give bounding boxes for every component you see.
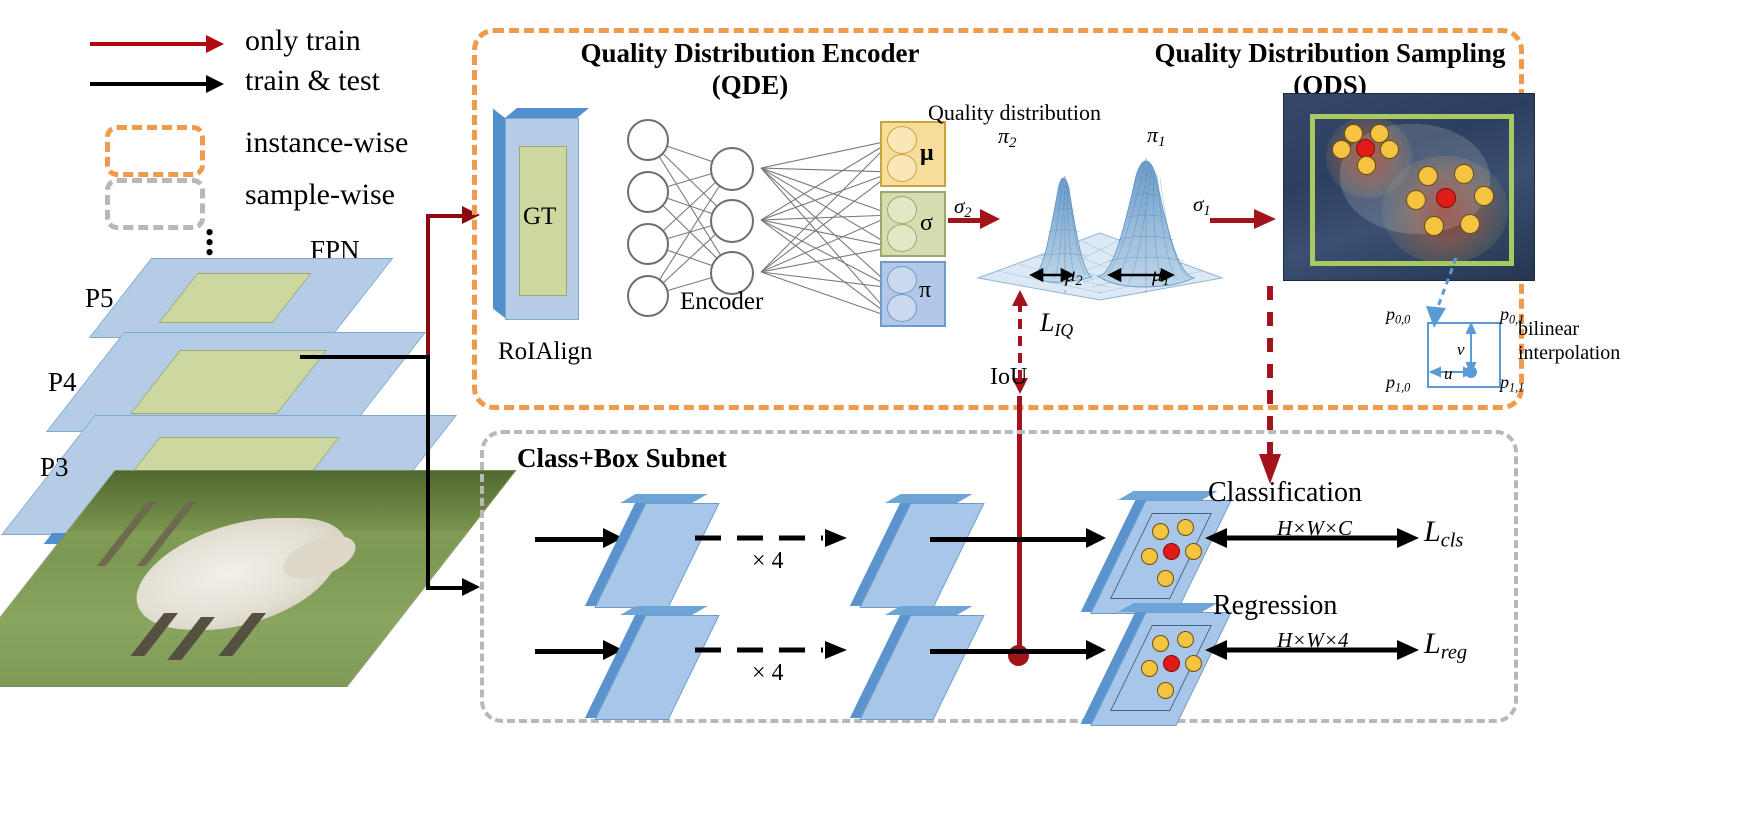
reg-sample-dot-1 (1152, 635, 1169, 652)
qde-title-line2: (QDE) (540, 70, 960, 101)
output-box-mu: μ (880, 121, 946, 187)
quality-distribution-surface (970, 128, 1230, 303)
legend-instance-wise-swatch-icon (105, 125, 205, 177)
reg-sample-dot-2 (1177, 631, 1194, 648)
output-box-pi: π (880, 261, 946, 327)
mlp-input-node-2 (627, 171, 669, 213)
reg-mid-arrow-line (930, 649, 1090, 654)
mlp-hidden-node-2 (710, 199, 754, 243)
mlp-input-node-1 (627, 119, 669, 161)
branch-traintest-vertical (426, 355, 430, 590)
bilinear-label-line1: bilinear (1518, 318, 1579, 341)
arrow-to-subnet-line (426, 586, 466, 590)
bilinear-corner-p11: p1,1 (1500, 372, 1524, 395)
iou-label: IoU (990, 364, 1027, 391)
bilinear-v-label: v (1457, 340, 1465, 360)
reg-mid-arrow-head-icon (1086, 640, 1106, 660)
cls-repeat-label: × 4 (752, 548, 784, 575)
qds-title-line1: Quality Distribution Sampling (1150, 38, 1510, 69)
cls-sample-dot-5 (1157, 570, 1174, 587)
cls-sample-dot-4 (1185, 543, 1202, 560)
reg-conv-block-1 (620, 615, 692, 718)
reg-conv-block-2 (885, 615, 957, 718)
qde-title-line1: Quality Distribution Encoder (540, 38, 960, 69)
cls-conv-block-2 (885, 503, 957, 606)
roi-feature-slab: GT (505, 118, 577, 318)
output-box-sigma: σ (880, 191, 946, 257)
branch-train-vertical (426, 214, 430, 359)
legend-label-train-test: train & test (245, 64, 380, 98)
loss-reg-label: Lreg (1424, 627, 1467, 665)
cls-sample-dot-1 (1152, 523, 1169, 540)
cls-in-arrow-line (535, 537, 607, 542)
legend-label-sample-wise: sample-wise (245, 178, 395, 212)
roialign-label: RoIAlign (498, 338, 592, 366)
cls-conv-block-1 (620, 503, 692, 606)
dist-sigma-label-2: σ2 (954, 194, 972, 222)
fpn-plane-p5 (120, 258, 360, 336)
cls-sample-dot-2 (1177, 519, 1194, 536)
classification-double-arrow-icon (1205, 527, 1420, 551)
cls-mid-arrow-head-icon (1086, 528, 1106, 548)
dist-mu-label-2: μ2 (1065, 262, 1083, 290)
fpn-level-p5-label: P5 (85, 283, 114, 314)
fpn-level-p4-label: P4 (48, 367, 77, 398)
dist-peak-label-1: π1 (1147, 122, 1166, 151)
arrow-to-subnet-head-icon (462, 578, 480, 596)
legend-label-only-train: only train (245, 24, 361, 58)
regression-double-arrow-icon (1205, 639, 1420, 663)
legend-only-train-arrow-icon (90, 42, 210, 46)
mlp-hidden-node-1 (710, 147, 754, 191)
arrow-to-qde-line (426, 214, 466, 218)
loss-cls-label: Lcls (1424, 515, 1463, 553)
encoder-label: Encoder (680, 288, 763, 316)
gt-label: GT (523, 203, 556, 231)
dist-sigma-label-1: σ1 (1193, 192, 1211, 220)
dist-mu-label-1: μ1 (1152, 262, 1170, 290)
reg-in-arrow-line (535, 649, 607, 654)
mlp-input-node-3 (627, 223, 669, 265)
output-symbol-pi: π (919, 277, 931, 304)
reg-sample-dot-5 (1157, 682, 1174, 699)
bilinear-corner-p00: p0,0 (1386, 304, 1410, 327)
legend-label-instance-wise: instance-wise (245, 126, 408, 160)
output-symbol-sigma: σ (920, 210, 933, 237)
bilinear-u-label: u (1444, 364, 1453, 384)
legend-only-train-arrowhead-icon (206, 35, 224, 53)
dist-peak-label-2: π2 (998, 123, 1017, 152)
fpn-ellipsis-icon: ••• (205, 228, 214, 258)
fpn-level-p3-label: P3 (40, 452, 69, 483)
subnet-title: Class+Box Subnet (517, 443, 727, 474)
fpn-trunk-line (300, 355, 430, 359)
bilinear-label-line2: interpolation (1518, 342, 1620, 365)
legend-sample-wise-swatch-icon (105, 178, 205, 230)
reg-sample-dot-3 (1141, 660, 1158, 677)
mlp-input-node-4 (627, 275, 669, 317)
bilinear-corner-p10: p1,0 (1386, 372, 1410, 395)
loss-iq-label: LIQ (1040, 308, 1073, 341)
cls-mid-arrow-line (930, 537, 1090, 542)
classification-label: Classification (1208, 477, 1362, 509)
cls-sample-dot-3 (1141, 548, 1158, 565)
legend-train-test-arrowhead-icon (206, 75, 224, 93)
regression-label: Regression (1213, 590, 1337, 622)
arrow-dist-to-qds-line (1210, 218, 1258, 223)
legend-train-test-arrow-icon (90, 82, 210, 86)
arrow-dist-to-qds-head-icon (1254, 209, 1276, 229)
reg-center-dot (1163, 655, 1180, 672)
output-symbol-mu: μ (920, 140, 934, 167)
qds-heatmap-image (1283, 93, 1535, 281)
reg-sample-dot-4 (1185, 655, 1202, 672)
reg-repeat-label: × 4 (752, 660, 784, 687)
cls-center-dot (1163, 543, 1180, 560)
